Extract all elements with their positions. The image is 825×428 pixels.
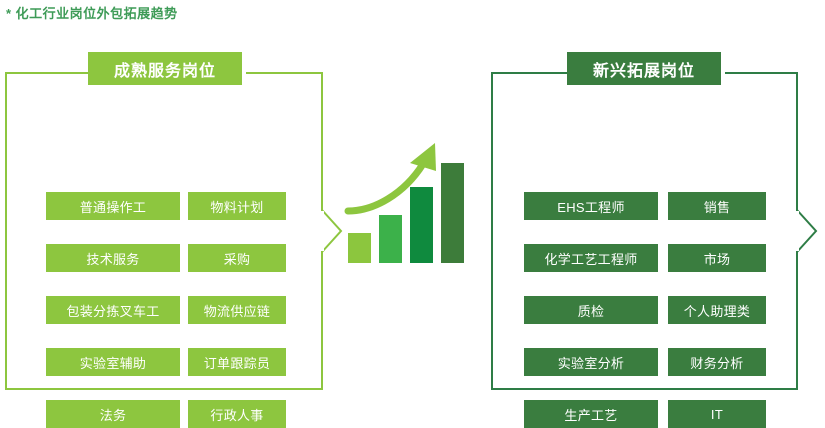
chip-item[interactable]: 物流供应链 (188, 296, 286, 324)
bar-4 (441, 163, 464, 263)
panel-mature-service-positions: 普通操作工 物料计划 技术服务 采购 包装分拣叉车工 物流供应链 实验室辅助 订… (5, 72, 323, 390)
bar-3 (410, 187, 433, 263)
chip-item[interactable]: 个人助理类 (668, 296, 766, 324)
chip-item[interactable]: IT (668, 400, 766, 428)
chip-item[interactable]: 行政人事 (188, 400, 286, 428)
growth-chart-graphic (340, 138, 470, 268)
chip-item[interactable]: 物料计划 (188, 192, 286, 220)
chip-item[interactable]: EHS工程师 (524, 192, 658, 220)
chip-item[interactable]: 订单跟踪员 (188, 348, 286, 376)
chip-item[interactable]: 实验室分析 (524, 348, 658, 376)
panel-header-emerging-expansion: 新兴拓展岗位 (567, 52, 721, 85)
chip-item[interactable]: 法务 (46, 400, 180, 428)
chip-item[interactable]: 包装分拣叉车工 (46, 296, 180, 324)
chip-item[interactable]: 实验室辅助 (46, 348, 180, 376)
chip-item[interactable]: 技术服务 (46, 244, 180, 272)
panel-border-right (491, 72, 798, 390)
chip-item[interactable]: 采购 (188, 244, 286, 272)
diagram-canvas: * 化工行业岗位外包拓展趋势 普通操作工 物料计划 技术服务 采购 包装分拣叉车… (0, 0, 825, 402)
page-title: * 化工行业岗位外包拓展趋势 (6, 3, 178, 22)
chevron-notch-left (319, 211, 324, 251)
chip-item[interactable]: 财务分析 (668, 348, 766, 376)
bar-1 (348, 233, 371, 263)
panel-border-left (5, 72, 323, 390)
chip-item[interactable]: 化学工艺工程师 (524, 244, 658, 272)
panel-emerging-expansion-positions: EHS工程师 销售 化学工艺工程师 市场 质检 个人助理类 实验室分析 财务分析… (491, 72, 798, 390)
growth-chart-svg (340, 138, 470, 268)
chip-item[interactable]: 市场 (668, 244, 766, 272)
bar-2 (379, 215, 402, 263)
chip-item[interactable]: 质检 (524, 296, 658, 324)
chip-item[interactable]: 生产工艺 (524, 400, 658, 428)
chevron-right-icon-right-panel (796, 209, 818, 253)
chevron-notch-right (794, 211, 799, 251)
chip-item[interactable]: 普通操作工 (46, 192, 180, 220)
chip-item[interactable]: 销售 (668, 192, 766, 220)
panel-header-mature-service: 成熟服务岗位 (88, 52, 242, 85)
